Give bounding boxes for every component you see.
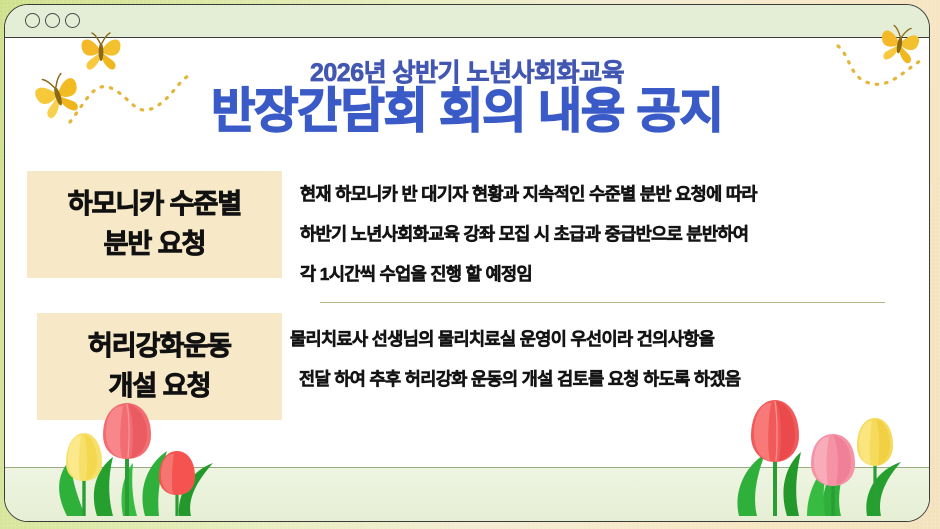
circle-icon-2[interactable] (45, 13, 60, 28)
section-label-box-1: 하모니카 수준별 분반 요청 (27, 171, 282, 278)
browser-window-frame: 2026년 상반기 노년사회화교육 반장간담회 회의 내용 공지 하모니카 수준… (4, 4, 930, 522)
circle-icon-1[interactable] (25, 13, 40, 28)
section-label-line2: 개설 요청 (109, 367, 211, 406)
section-label-line1: 하모니카 수준별 (68, 185, 241, 224)
section-body-1: 현재 하모니카 반 대기자 현황과 지속적인 수준별 분반 요청에 따라 하반기… (300, 171, 930, 294)
tulip-cluster-right (729, 396, 919, 521)
section-row-1: 하모니카 수준별 분반 요청 현재 하모니카 반 대기자 현황과 지속적인 수준… (5, 171, 930, 294)
section-label-line1: 허리강화운동 (88, 327, 231, 366)
traffic-light-dots (25, 13, 80, 28)
body-line: 전달 하여 추후 허리강화 운동의 개설 검토를 요청 하도록 하겠음 (290, 359, 930, 399)
butterfly-icon-top-right (873, 15, 926, 68)
slide-canvas: 2026년 상반기 노년사회화교육 반장간담회 회의 내용 공지 하모니카 수준… (0, 0, 940, 529)
tulip-cluster-left (27, 401, 242, 521)
body-line: 물리치료사 선생님의 물리치료실 운영이 우선이라 건의사항을 (290, 319, 930, 359)
section-divider (320, 302, 885, 303)
section-body-2: 물리치료사 선생님의 물리치료실 운영이 우선이라 건의사항을 전달 하여 추후… (290, 313, 930, 399)
body-line: 하반기 노년사회화교육 강좌 모집 시 초급과 중급반으로 분반하여 (300, 214, 930, 254)
section-label-line2: 분반 요청 (104, 225, 206, 264)
butterfly-icon-top-left (77, 25, 125, 73)
window-titlebar (5, 5, 929, 38)
body-line: 각 1시간씩 수업을 진행 할 예정임 (300, 254, 930, 294)
body-line: 현재 하모니카 반 대기자 현황과 지속적인 수준별 분반 요청에 따라 (300, 174, 930, 214)
